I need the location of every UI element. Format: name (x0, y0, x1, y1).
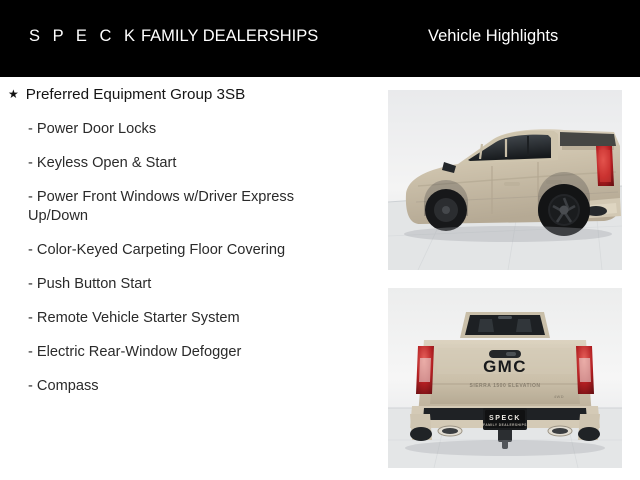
tailgate-badge-text: GMC (483, 357, 527, 376)
brand-secondary-text: FAMILY DEALERSHIPS (141, 27, 318, 45)
list-item: - Power Door Locks (0, 120, 330, 139)
page-title: Vehicle Highlights (428, 27, 558, 46)
header-bar: S P E C KFAMILY DEALERSHIPS Vehicle High… (0, 0, 640, 77)
svg-text:SIERRA 1500 ELEVATION: SIERRA 1500 ELEVATION (470, 383, 541, 389)
feature-group-title: Preferred Equipment Group 3SB (26, 84, 246, 105)
vehicle-rear-quarter-illustration (388, 90, 622, 270)
vehicle-rear-illustration: GMC SIERRA 1500 ELEVATION 4WD (388, 288, 622, 468)
list-item: - Color-Keyed Carpeting Floor Covering (0, 241, 330, 260)
list-item: - Push Button Start (0, 275, 330, 294)
brand-logo: S P E C KFAMILY DEALERSHIPS (29, 27, 318, 46)
slide-root: S P E C KFAMILY DEALERSHIPS Vehicle High… (0, 0, 640, 480)
vehicle-photo-rear-quarter[interactable] (388, 90, 622, 270)
svg-text:4WD: 4WD (554, 394, 564, 399)
license-plate-text: SPECK (489, 415, 521, 422)
list-item: - Compass (0, 377, 330, 396)
feature-group-header: ★ Preferred Equipment Group 3SB (0, 84, 380, 105)
list-item: - Electric Rear-Window Defogger (0, 343, 330, 362)
license-plate-subtext: FAMILY DEALERSHIPS (483, 423, 527, 427)
star-icon: ★ (8, 84, 19, 105)
list-item: - Remote Vehicle Starter System (0, 309, 330, 328)
list-item: - Keyless Open & Start (0, 154, 330, 173)
list-item: - Power Front Windows w/Driver Express U… (0, 188, 330, 226)
brand-primary-text: S P E C K (29, 27, 139, 45)
vehicle-photo-rear[interactable]: GMC SIERRA 1500 ELEVATION 4WD (388, 288, 622, 468)
feature-list: ★ Preferred Equipment Group 3SB - Power … (0, 84, 380, 480)
